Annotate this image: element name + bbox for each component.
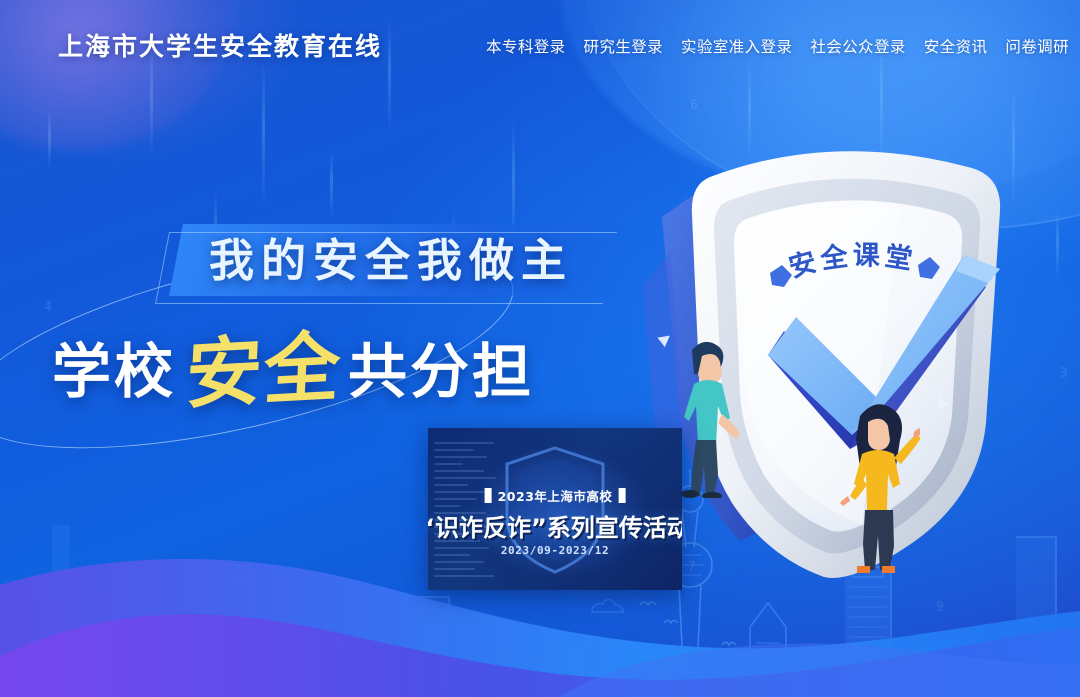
figure-woman [838, 392, 920, 574]
nav-item-5[interactable]: 安全资讯 [924, 35, 988, 57]
subline-post: 共分担 [348, 342, 534, 401]
site-logo[interactable]: 上海市大学生安全教育在线 [58, 34, 382, 59]
site-header: 上海市大学生安全教育在线 本专科登录研究生登录实验室准入登录社会公众登录安全资讯… [0, 0, 1080, 92]
decor-digit: 4 [44, 300, 52, 315]
hero-subline: 学校 安全 共分担 [52, 333, 534, 409]
poster-tag-bar-left [485, 488, 492, 503]
subline-pre: 学校 [52, 342, 176, 401]
poster-tag-text: 2023年上海市高校 [498, 486, 613, 505]
nav-item-2[interactable]: 研究生登录 [584, 35, 664, 57]
hero-headline: 我的安全我做主 [209, 230, 573, 292]
subline-accent: 安全 [184, 329, 344, 413]
poster-tag: 2023年上海市高校 [485, 486, 626, 505]
nav-item-1[interactable]: 本专科登录 [486, 35, 566, 57]
nav-item-4[interactable]: 社会公众登录 [810, 35, 905, 57]
hero-banner-page: 76394318 [0, 0, 1080, 697]
poster-title: “识诈反诈”系列宣传活动 [428, 508, 682, 543]
nav-item-3[interactable]: 实验室准入登录 [681, 35, 792, 57]
orbit-tip-right [937, 397, 950, 410]
poster-tag-bar-right [618, 488, 625, 503]
figure-man [672, 328, 742, 498]
nav-item-6[interactable]: 问卷调研 [1005, 35, 1069, 57]
campaign-poster-card[interactable]: 2023年上海市高校 “识诈反诈”系列宣传活动 2023/09-2023/12 [428, 428, 682, 590]
hero-headline-banner: 我的安全我做主 [162, 224, 624, 304]
poster-date-range: 2023/09-2023/12 [501, 544, 609, 557]
main-navigation: 本专科登录研究生登录实验室准入登录社会公众登录安全资讯问卷调研 [486, 35, 1069, 57]
